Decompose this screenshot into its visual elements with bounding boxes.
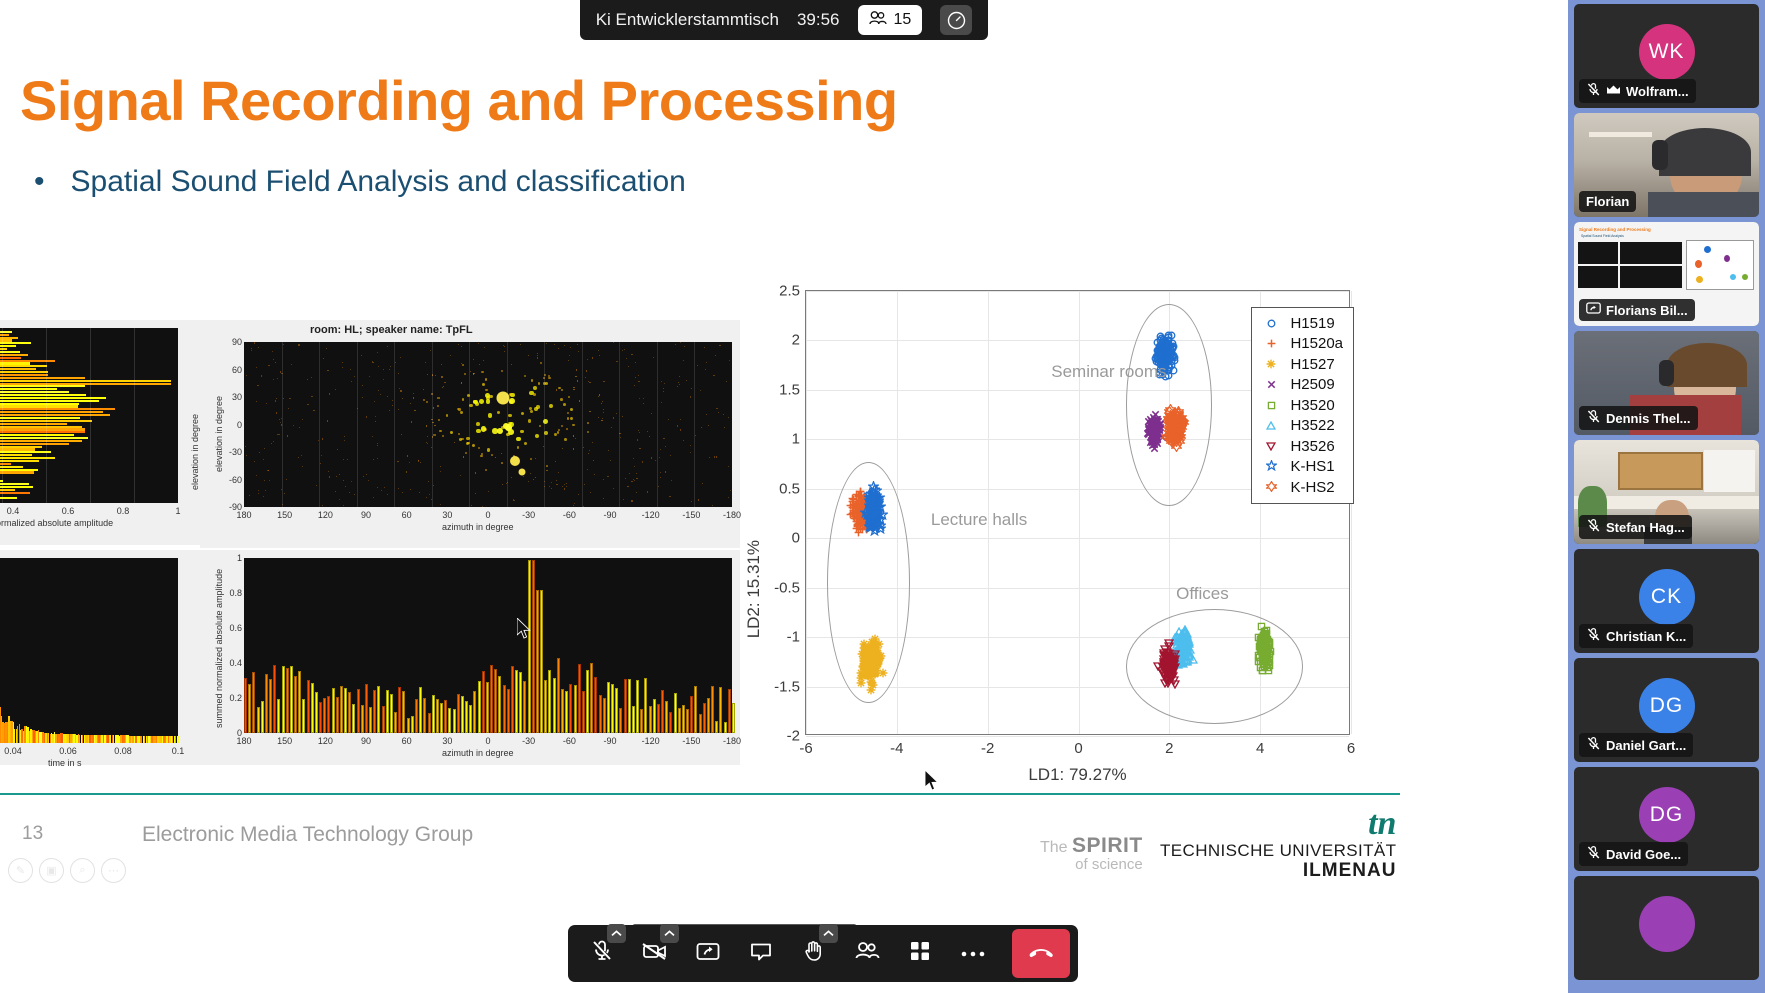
lda-xtick-label: 0 [1074,740,1082,757]
energy-dot [634,385,635,386]
participant-tile[interactable]: Signal Recording and ProcessingSpatial S… [1574,222,1759,326]
energy-dot [561,425,563,427]
energy-dot [323,358,324,359]
energy-dot [479,399,484,404]
azimuth-bar [694,686,697,733]
chevron-up-icon[interactable] [607,924,626,943]
energy-dot [342,362,343,363]
energy-dot [715,355,716,356]
energy-dot [482,506,483,507]
energy-dot [263,459,264,460]
energy-dot [302,466,303,467]
azimuth-bar [490,665,493,733]
energy-dot [383,379,384,380]
energy-dot [555,461,556,462]
energy-dot [557,431,560,434]
participant-name-badge: Florians Bil... [1579,299,1695,321]
energy-dot [284,493,285,494]
energy-dot [461,382,463,384]
energy-dot [684,346,685,347]
energy-dot [254,461,255,462]
energy-dot [622,416,623,417]
energy-dot [351,381,352,382]
presenter-tools[interactable]: ✎▣⌕⋯ [8,858,126,883]
energy-dot [428,481,429,482]
chevron-up-icon[interactable] [660,924,679,943]
participant-tile[interactable]: DGDavid Goe... [1574,767,1759,871]
energy-dot [665,446,666,447]
avatar [1639,896,1695,952]
energy-dot [647,491,648,492]
lda-ytick-label: 2 [792,332,800,349]
camera-off-icon [640,938,670,969]
call-control-toolbar[interactable] [568,925,1078,982]
more-icon[interactable]: ⋯ [101,858,126,883]
energy-dot [258,347,259,348]
energy-dot [537,357,538,358]
energy-dot [690,452,691,453]
energy-dot [528,419,531,422]
energy-dot [461,346,462,347]
azimuth-bar [473,691,476,733]
azimuth-bar [257,707,260,733]
axis-tick-label: -30 [229,447,242,457]
spectrum-bar [0,391,69,393]
legend-label: H3526 [1290,438,1334,455]
meeting-timer: 39:56 [797,10,840,30]
azimuth-bar [402,691,405,733]
azimuth-bar [252,672,255,733]
lda-ytick-label: -0.5 [774,579,800,596]
legend-row: K-HS2 [1258,477,1343,498]
energy-dot [594,474,595,475]
energy-dot [410,403,411,404]
energy-dot [537,355,538,356]
energy-dot [636,478,637,479]
lda-ytick-label: 2.5 [779,283,800,300]
energy-dot [690,397,691,398]
energy-dot [598,396,599,397]
energy-dot [603,381,604,382]
energy-dot [633,479,634,480]
energy-dot [639,432,640,433]
scatter-point [862,656,872,666]
spectrum-bar [0,371,48,373]
energy-dot [289,398,290,399]
people-icon [853,938,881,969]
spectrum-bar [0,451,51,453]
participant-tile[interactable] [1574,876,1759,980]
energy-dot [465,452,467,454]
lda-legend: H1519H1520aH1527H2509H3520H3522H3526K-HS… [1251,307,1354,504]
energy-dot [373,459,374,460]
azimuth-bar [703,703,706,733]
axis-tick-label: 120 [318,510,333,520]
legend-marker-icon [1258,480,1284,495]
bullet-marker-icon: • [34,167,45,197]
energy-dot [634,480,635,481]
energy-dot [443,386,444,387]
azimuth-bar [528,560,531,733]
energy-dot [583,447,584,448]
more-options-button[interactable] [947,929,998,979]
energy-dot [440,471,441,472]
azimuth-bar [599,695,602,733]
energy-dot [480,455,482,457]
energy-dot [375,416,376,417]
energy-dot [366,416,367,417]
axis-tick-label: 0 [237,420,242,430]
energy-dot [343,505,344,506]
spectrum-bar [0,383,171,385]
axis-tick-label: -60 [563,510,576,520]
energy-dot [343,480,344,481]
microphone-muted-icon [589,938,615,969]
energy-dot [259,452,260,453]
scatter-point [1160,645,1170,654]
participant-tile[interactable]: CKChristian K... [1574,549,1759,653]
energy-dot [276,398,277,399]
energy-dot [501,370,503,372]
energy-dot [549,404,553,408]
energy-dot [706,362,707,363]
energy-dot [706,414,707,415]
ellipsis-icon [960,945,986,963]
energy-dot [588,453,589,454]
energy-dot [264,448,265,449]
participant-name: Florian [1586,194,1629,209]
azimuth-bar [315,692,318,733]
energy-dot [287,435,288,436]
gridline-vertical [46,328,47,503]
energy-dot [363,476,364,477]
energy-dot [638,430,639,431]
energy-dot [714,456,715,457]
participant-name: Daniel Gart... [1606,738,1686,753]
energy-dot [690,445,691,446]
energy-dot [256,475,257,476]
energy-dot [705,369,706,370]
azimuth-elevation-title: room: HL; speaker name: TpFL [310,324,473,336]
gridline-vertical [507,342,508,507]
energy-dot [677,386,678,387]
energy-dot [361,355,362,356]
energy-dot [504,351,505,352]
azimuth-bar [340,686,343,733]
zoom-icon[interactable]: ⌕ [70,858,95,883]
spectrum-bar [0,428,85,430]
azimuth-bar [307,680,310,733]
azimuth-bar [436,699,439,733]
energy-dot [564,345,565,346]
azimuth-bar [444,700,447,733]
energy-dot [643,403,644,404]
azimuth-bar [373,690,376,733]
energy-dot [578,351,579,352]
energy-dot [462,364,464,366]
spirit-word: SPIRIT [1072,834,1143,857]
energy-dot [387,346,388,347]
avatar: DG [1639,678,1695,734]
energy-dot [437,405,439,407]
avatar: CK [1639,569,1695,625]
participant-name: Christian K... [1606,629,1686,644]
energy-dot [575,438,576,439]
azimuth-bar [361,705,364,733]
axis-tick-label: 150 [277,510,292,520]
grid-view-button[interactable] [894,929,945,979]
azimuth-bar [644,678,647,733]
axis-tick-label: -120 [642,736,660,746]
energy-dot [588,381,589,382]
energy-dot [577,344,578,345]
participant-name-badge: Stefan Hag... [1579,515,1692,539]
energy-dot [482,383,485,386]
energy-dot [570,408,573,411]
participant-tile[interactable]: WKWolfram... [1574,4,1759,108]
scatter-point [1259,650,1268,659]
participant-name: Wolfram... [1626,84,1689,99]
meeting-info-pill: Ki Entwicklerstammtisch 39:56 15 [580,0,989,40]
energy-dot [426,497,427,498]
energy-dot [718,412,719,413]
slide-number: 13 [22,823,43,845]
legend-marker-icon [1258,377,1284,392]
energy-dot [268,470,269,471]
meeting-title: Ki Entwicklerstammtisch [596,10,779,30]
axis-tick-label: -90 [603,510,616,520]
energy-dot [546,465,548,467]
peak-dot [510,456,520,466]
energy-dot [275,400,276,401]
spectrum-bar [0,446,42,448]
energy-dot [556,389,557,390]
chevron-up-icon[interactable] [819,924,838,943]
energy-dot [336,476,337,477]
energy-dot [698,499,699,500]
energy-dot [460,411,463,414]
participant-tile[interactable]: Florian [1574,113,1759,217]
participant-name: Florians Bil... [1606,303,1688,318]
energy-dot [399,388,400,389]
energy-dot [579,400,581,402]
energy-dot [251,350,252,351]
cluster-annotation: Seminar rooms [1051,362,1166,382]
end-call-button[interactable] [1012,929,1070,978]
energy-dot [728,417,729,418]
energy-dot [728,466,729,467]
energy-dot [254,342,255,343]
energy-dot [378,390,379,391]
energy-dot [592,357,593,358]
azimuth-bar [486,682,489,733]
pen-icon[interactable]: ✎ [8,858,33,883]
energy-dot [381,490,382,491]
presentation-slide: Signal Recording and Processing • Spatia… [0,40,1568,993]
shared-screen-stage[interactable]: Signal Recording and Processing • Spatia… [0,0,1568,993]
azimuth-bar [669,712,672,733]
raise-hand-button[interactable] [788,929,839,979]
axis-tick-label: -90 [603,736,616,746]
spectrum-bar [0,457,55,459]
participants-button[interactable] [841,929,892,979]
axis-tick-label: 90 [232,337,242,347]
azimuth-bar [336,697,339,733]
energy-dot [301,455,302,456]
gridline-vertical [134,328,135,503]
energy-dot [661,381,662,382]
spectrum-bar [0,414,110,416]
spectrum-bar [0,492,30,494]
azimuth-bar [494,669,497,733]
slide-bullet: • Spatial Sound Field Analysis and class… [34,165,686,199]
energy-dot [400,390,401,391]
energy-dot [450,355,451,356]
energy-dot [261,375,262,376]
energy-dot [524,375,526,377]
lda-xlabel: LD1: 79.27% [805,765,1350,785]
gridline-vertical [694,342,695,507]
scatter-point [1165,341,1174,350]
energy-dot [313,410,314,411]
energy-dot [487,448,490,451]
gridline-horizontal [806,736,1349,737]
azimuth-bar [619,708,622,733]
energy-dot [558,472,559,473]
annotate-icon[interactable]: ▣ [39,858,64,883]
azimuth-bar [319,702,322,733]
energy-dot [584,484,585,485]
energy-dot [471,505,472,506]
azimuth-bar [302,699,305,733]
azimuth-bar [398,687,401,734]
lda-scatter-chart: LD2: 15.31% -6-4-20246-2-1.5-1-0.500.511… [760,285,1360,795]
participant-tile[interactable]: Stefan Hag... [1574,440,1759,544]
participant-count: 15 [894,11,912,29]
lda-ytick-label: 1.5 [779,381,800,398]
energy-dot [643,398,644,399]
energy-dot [578,494,579,495]
speedometer-icon [947,11,966,30]
avatar: WK [1639,24,1695,80]
energy-dot [635,362,636,363]
lda-ytick-label: -2 [787,728,800,745]
energy-dot [273,379,274,380]
energy-dot [589,450,590,451]
azimuth-bar [386,690,389,733]
microphone-muted-icon [1586,736,1601,754]
energy-dot [573,505,574,506]
azimuth-bar [352,704,355,733]
energy-dot [702,483,703,484]
azimuth-bar [332,688,335,733]
energy-dot [680,419,681,420]
energy-dot [481,371,483,373]
energy-dot [634,466,635,467]
participant-name: Stefan Hag... [1606,520,1685,535]
energy-dot [549,486,550,487]
lda-ylabel: LD2: 15.31% [744,540,764,638]
azimuth-amplitude-panel: summed normalized absolute amplitude 10.… [200,550,740,765]
azimuth-bar [665,701,668,733]
energy-dot [327,420,328,421]
footer-divider [0,793,1400,795]
energy-dot [533,479,534,480]
energy-dot [475,472,476,473]
azimuth-bar [327,696,330,733]
energy-dot [497,428,503,434]
energy-dot [716,456,717,457]
axis-tick-label: 30 [442,510,452,520]
energy-dot [419,492,420,493]
axis-tick-label: 60 [232,365,242,375]
energy-dot [659,457,660,458]
energy-dot [362,385,363,386]
energy-dot [454,442,455,443]
azimuth-elevation-xlabel: azimuth in degree [442,522,514,532]
energy-dot [458,344,459,345]
azimuth-bar [561,689,564,733]
chat-button[interactable] [735,929,786,979]
energy-dot [589,411,590,412]
energy-dot [651,457,652,458]
energy-dot [441,364,442,365]
azimuth-bar [649,706,652,733]
energy-dot [423,399,424,400]
energy-dot [635,377,636,378]
spectrum-bar [0,454,32,456]
energy-dot [402,492,403,493]
azimuth-bar [719,687,722,733]
energy-dot [611,427,612,428]
share-screen-button[interactable] [682,929,733,979]
energy-dot [636,473,637,474]
scatter-point [1180,653,1190,662]
energy-dot [502,484,503,485]
lda-ytick-label: 1 [792,431,800,448]
energy-dot [691,388,692,389]
time-amplitude-panel: 0.020.040.060.080.1 time in s [0,550,200,765]
participant-filmstrip[interactable]: WKWolfram...FlorianSignal Recording and … [1568,0,1765,993]
connection-quality-button[interactable] [940,5,972,35]
camera-off-button[interactable] [629,929,680,979]
spirit-subtitle: of science [1040,857,1143,873]
participant-tile[interactable]: DGDaniel Gart... [1574,658,1759,762]
figure-block: elevation in degree 0.20.40.60.81 summed… [0,240,1400,750]
azimuth-bar [415,699,418,733]
mic-off-button[interactable] [576,929,627,979]
energy-dot [613,417,614,418]
azimuth-bar [365,684,368,733]
spectrum-bar [0,374,48,376]
energy-dot [728,497,729,498]
spectrum-bar [0,417,80,419]
energy-dot [339,499,340,500]
participant-tile[interactable]: Dennis Thel... [1574,331,1759,435]
energy-dot [636,492,637,493]
energy-dot [626,358,627,359]
scatter-point [1155,345,1164,354]
axis-tick-label: -120 [642,510,660,520]
azimuth-bar [536,590,539,734]
scatter-point [1150,427,1159,436]
energy-dot [438,397,440,399]
energy-dot [491,454,493,456]
spectrum-bar [0,434,74,436]
energy-dot [729,360,730,361]
azimuth-bar [423,698,426,733]
participant-count-chip[interactable]: 15 [858,5,923,35]
